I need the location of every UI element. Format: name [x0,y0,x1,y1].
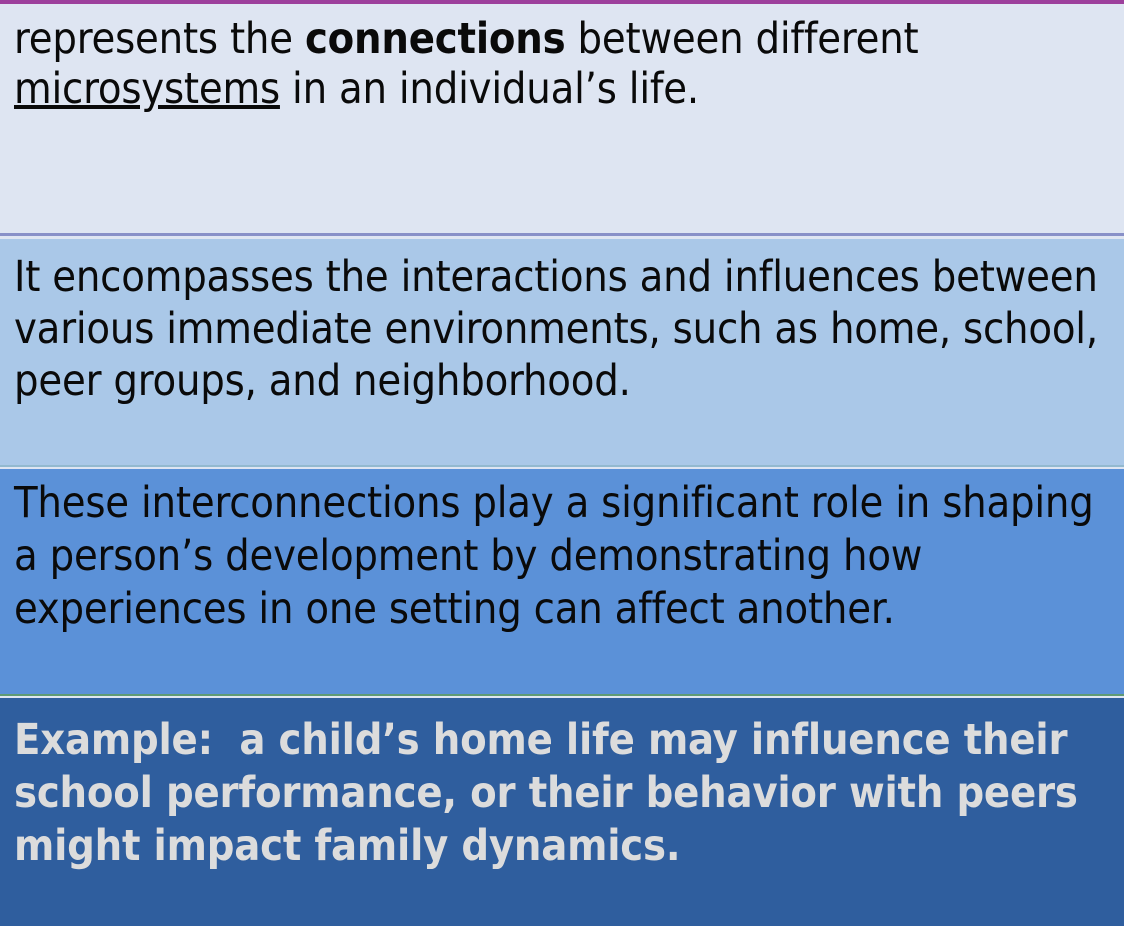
text-block-example-statement: Example: a child’s home life may influen… [0,698,1124,926]
slide-canvas: represents the connections between diffe… [0,0,1124,926]
paragraph-mesosystem-definition: represents the connections between diffe… [14,14,1112,114]
paragraph-encompasses-interactions: It encompasses the interactions and infl… [14,251,1116,407]
text-run-plain: represents the [14,14,305,64]
text-run-bold-connections: connections [305,14,565,64]
text-run-underline-microsystems: microsystems [14,64,280,114]
paragraph-interconnections-role: These interconnections play a significan… [14,477,1116,636]
text-block-interconnections-role: These interconnections play a significan… [0,469,1124,696]
paragraph-example-statement: Example: a child’s home life may influen… [14,714,1116,873]
text-block-mesosystem-definition: represents the connections between diffe… [0,4,1124,236]
text-run-plain-3: in an individual’s life. [280,64,699,114]
text-run-plain-2: between different [565,14,930,64]
text-block-encompasses-interactions: It encompasses the interactions and infl… [0,239,1124,467]
